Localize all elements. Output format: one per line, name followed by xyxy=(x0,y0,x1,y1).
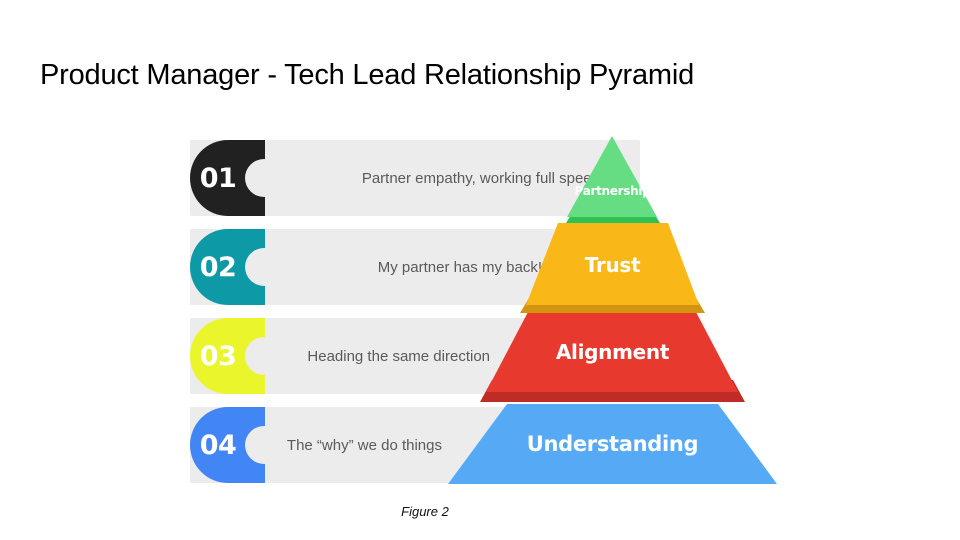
row-badge-03[interactable]: 03 xyxy=(190,318,265,394)
row-number-01: 01 xyxy=(190,140,246,216)
tier-understanding-label: Understanding xyxy=(440,432,785,456)
pyramid-tier-alignment[interactable]: Alignment xyxy=(480,310,745,406)
pyramid-tier-understanding[interactable]: Understanding xyxy=(440,404,785,490)
tier-partnership-shape xyxy=(567,136,657,217)
row-description-02: My partner has my back! xyxy=(270,229,542,305)
row-number-04: 04 xyxy=(190,407,246,483)
badge-notch-01 xyxy=(245,159,283,197)
pyramid-tier-partnership[interactable]: Partnership xyxy=(560,133,665,229)
pyramid-diagram: Partner empathy, working full speed 01 M… xyxy=(0,0,960,540)
tier-trust-label: Trust xyxy=(520,253,705,277)
row-number-03: 03 xyxy=(190,318,246,394)
badge-notch-04 xyxy=(245,426,283,464)
row-badge-02[interactable]: 02 xyxy=(190,229,265,305)
badge-notch-02 xyxy=(245,248,283,286)
row-description-03: Heading the same direction xyxy=(270,318,490,394)
badge-notch-03 xyxy=(245,337,283,375)
row-description-04: The “why” we do things xyxy=(270,407,442,483)
tier-partnership-label: Partnership xyxy=(560,184,665,198)
row-number-02: 02 xyxy=(190,229,246,305)
row-badge-01[interactable]: 01 xyxy=(190,140,265,216)
row-description-01: Partner empathy, working full speed xyxy=(270,140,600,216)
row-badge-04[interactable]: 04 xyxy=(190,407,265,483)
figure-caption: Figure 2 xyxy=(0,504,850,519)
tier-alignment-label: Alignment xyxy=(480,340,745,364)
slide-canvas: Product Manager - Tech Lead Relationship… xyxy=(0,0,960,540)
pyramid-tier-trust[interactable]: Trust xyxy=(520,221,705,317)
